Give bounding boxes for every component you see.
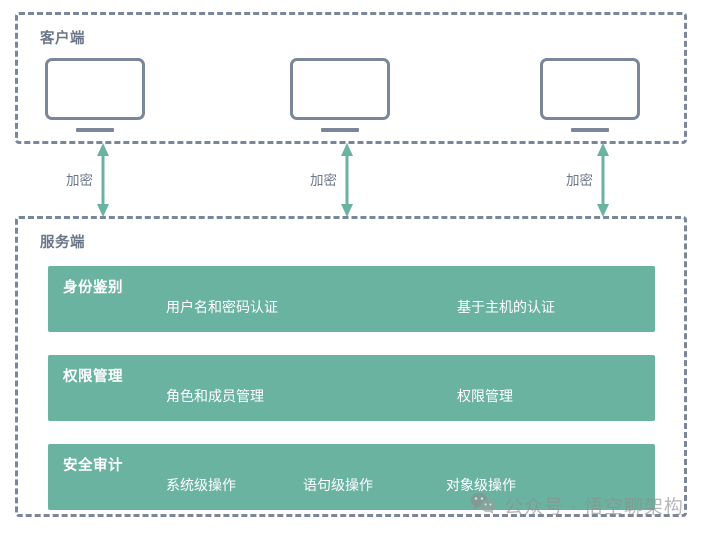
double-arrow-vertical-icon bbox=[595, 143, 611, 217]
capability-item: 角色和成员管理 bbox=[166, 386, 264, 406]
client-zone-label: 客户端 bbox=[40, 27, 85, 48]
capability-item: 基于主机的认证 bbox=[457, 297, 555, 317]
capability-item: 对象级操作 bbox=[446, 475, 516, 495]
monitor-icon bbox=[45, 58, 145, 120]
encryption-connector-2: 加密 bbox=[269, 143, 409, 217]
capability-bar-permission: 权限管理 角色和成员管理 权限管理 bbox=[48, 355, 655, 421]
server-zone-label: 服务端 bbox=[40, 231, 85, 252]
encryption-label: 加密 bbox=[25, 169, 93, 189]
double-arrow-vertical-icon bbox=[339, 143, 355, 217]
capability-bar-identity: 身份鉴别 用户名和密码认证 基于主机的认证 bbox=[48, 266, 655, 332]
encryption-connector-1: 加密 bbox=[25, 143, 165, 217]
monitor-stand bbox=[321, 128, 359, 132]
capability-bar-title: 安全审计 bbox=[63, 454, 123, 475]
capability-bar-audit: 安全审计 系统级操作 语句级操作 对象级操作 bbox=[48, 444, 655, 510]
client-monitor-2 bbox=[290, 58, 390, 138]
client-monitor-3 bbox=[540, 58, 640, 138]
monitor-stand bbox=[76, 128, 114, 132]
client-monitor-1 bbox=[45, 58, 145, 138]
encryption-connector-3: 加密 bbox=[525, 143, 665, 217]
capability-item: 用户名和密码认证 bbox=[166, 297, 278, 317]
double-arrow-vertical-icon bbox=[95, 143, 111, 217]
capability-item: 语句级操作 bbox=[303, 475, 373, 495]
monitor-icon bbox=[540, 58, 640, 120]
encryption-label: 加密 bbox=[269, 169, 337, 189]
encryption-label: 加密 bbox=[525, 169, 593, 189]
monitor-icon bbox=[290, 58, 390, 120]
capability-item: 权限管理 bbox=[457, 386, 513, 406]
capability-bar-title: 身份鉴别 bbox=[63, 276, 123, 297]
monitor-stand bbox=[571, 128, 609, 132]
capability-bar-title: 权限管理 bbox=[63, 365, 123, 386]
capability-item: 系统级操作 bbox=[166, 475, 236, 495]
